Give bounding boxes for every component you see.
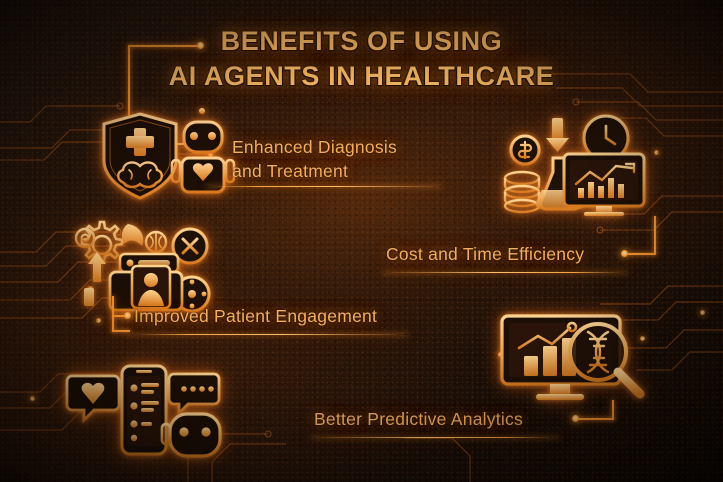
chatbot-head-icon bbox=[162, 414, 220, 456]
icon-cluster-improved-patient-engagement bbox=[72, 218, 212, 318]
monitor-chart-icon bbox=[564, 154, 644, 216]
heart-speech-bubble-icon bbox=[67, 376, 119, 420]
dollar-coin-icon bbox=[511, 136, 539, 164]
up-arrow-icon bbox=[84, 252, 106, 306]
benefit-label-line-2: and Treatment bbox=[232, 161, 348, 181]
icon-cluster-cost-time-efficiency bbox=[502, 112, 646, 216]
circuit-node bbox=[30, 396, 35, 401]
benefit-label-cost-time-efficiency: Cost and Time Efficiency bbox=[386, 244, 584, 265]
gear-icon bbox=[82, 222, 122, 262]
benefit-underline-3 bbox=[126, 334, 408, 335]
icon-cluster-better-predictive-analytics bbox=[494, 312, 654, 408]
benefit-label-text: Cost and Time Efficiency bbox=[386, 244, 584, 264]
down-arrow-icon bbox=[546, 118, 569, 152]
benefit-label-better-predictive-analytics: Better Predictive Analytics bbox=[314, 409, 523, 430]
benefit-underline-4 bbox=[310, 437, 560, 438]
chat-bubble-dots-icon bbox=[169, 374, 219, 413]
patient-card-icon bbox=[110, 254, 182, 310]
benefit-label-line-1: Enhanced Diagnosis bbox=[232, 137, 397, 157]
connector-dot bbox=[572, 415, 579, 422]
benefit-label-improved-patient-engagement: Improved Patient Engagement bbox=[134, 306, 377, 327]
benefit-underline-1 bbox=[206, 186, 442, 187]
icon-cluster-patient-chat bbox=[62, 362, 222, 460]
coin-stack-icon bbox=[505, 172, 539, 212]
circuit-node bbox=[700, 310, 705, 315]
title-line-2: AI AGENTS IN HEALTHCARE bbox=[0, 59, 723, 94]
smartphone-chat-icon bbox=[122, 366, 166, 454]
benefit-label-enhanced-diagnosis: Enhanced Diagnosis and Treatment bbox=[232, 136, 442, 184]
benefit-label-text: Improved Patient Engagement bbox=[134, 306, 377, 326]
brain-ball-icon bbox=[146, 232, 166, 252]
connector-dot bbox=[621, 250, 628, 257]
circuit-node bbox=[654, 150, 659, 155]
connector-dot bbox=[197, 42, 204, 49]
robot-icon bbox=[172, 108, 234, 192]
page-title: BENEFITS OF USING AI AGENTS IN HEALTHCAR… bbox=[0, 24, 723, 93]
spark-icon bbox=[122, 224, 143, 246]
icon-cluster-enhanced-diagnosis bbox=[96, 108, 228, 204]
circuit-node bbox=[96, 318, 101, 323]
title-line-1: BENEFITS OF USING bbox=[221, 26, 503, 56]
infographic-poster: BENEFITS OF USING AI AGENTS IN HEALTHCAR… bbox=[0, 0, 723, 482]
benefit-label-text: Better Predictive Analytics bbox=[314, 409, 523, 429]
benefit-underline-2 bbox=[382, 272, 628, 273]
